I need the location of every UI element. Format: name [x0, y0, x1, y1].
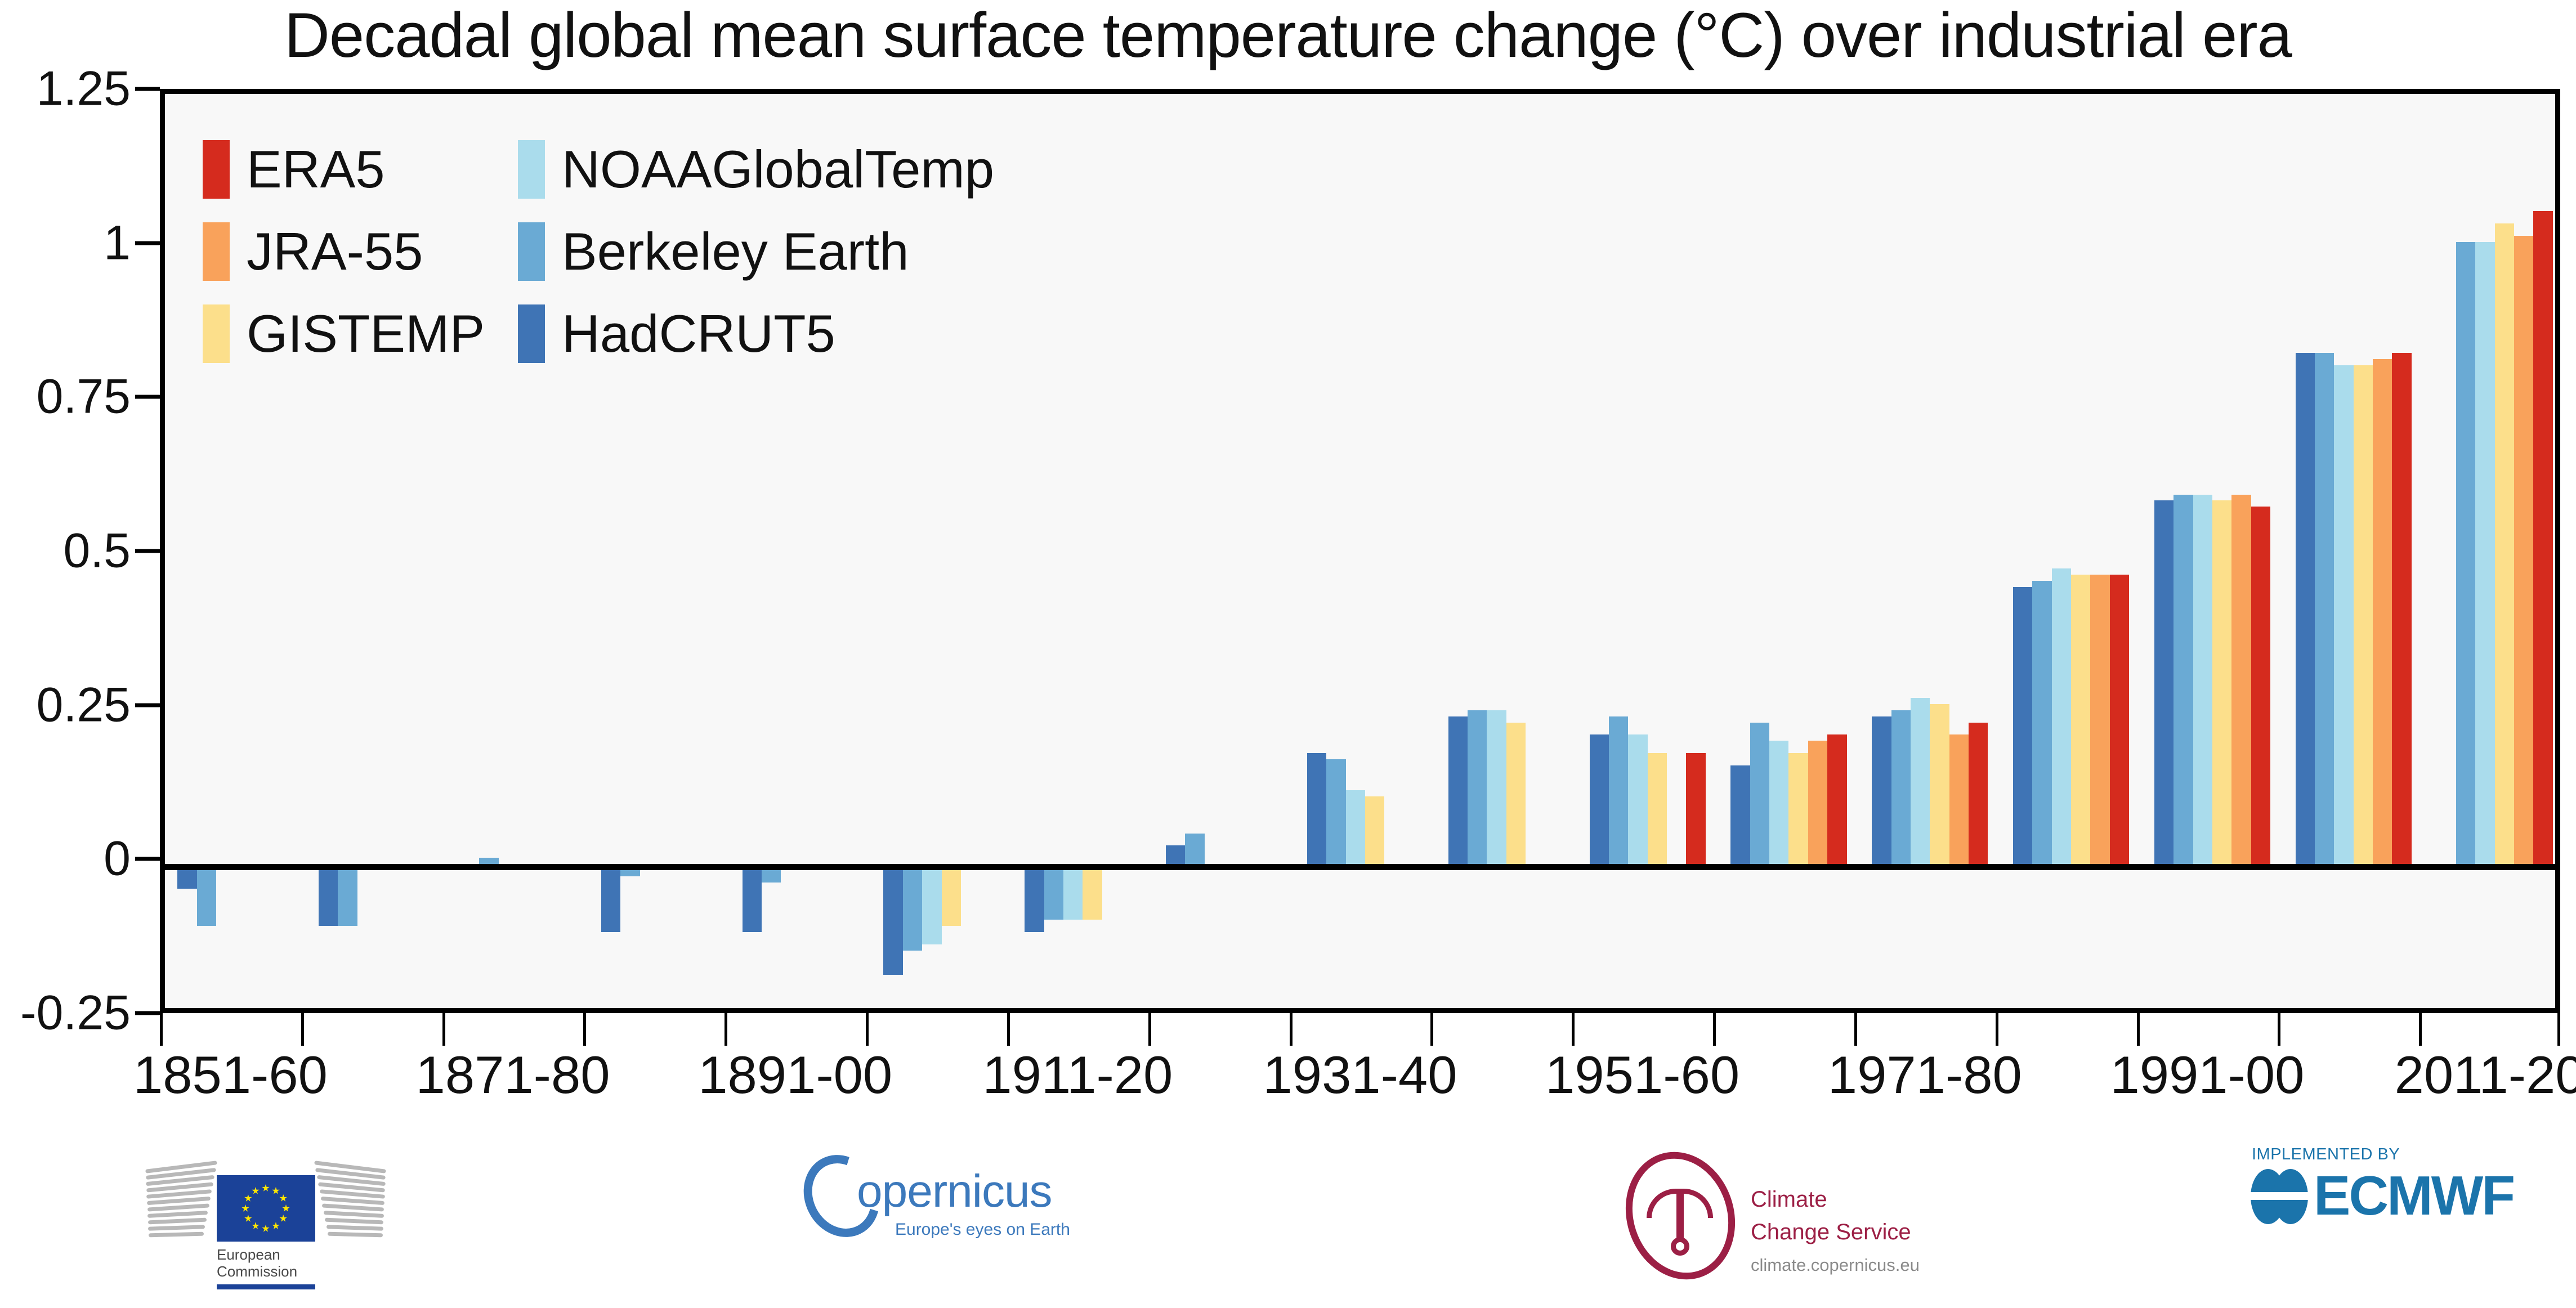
legend-item-jra-55: JRA-55 — [203, 210, 518, 293]
y-tick-mark — [135, 241, 160, 245]
bar-era5 — [1827, 734, 1846, 864]
chart-legend: ERA5NOAAGlobalTempJRA-55Berkeley EarthGI… — [203, 128, 994, 375]
bar-era5 — [1969, 723, 1988, 864]
x-tick-mark — [866, 1013, 869, 1046]
x-tick-label: 1991-00 — [2110, 1045, 2304, 1105]
bar-berkeley-earth — [1044, 864, 1063, 920]
bar-group — [1435, 94, 1577, 1008]
bar-noaaglobaltemp — [1063, 864, 1083, 920]
bar-gistemp — [1930, 704, 1949, 864]
legend-label: ERA5 — [247, 143, 385, 196]
bar-noaaglobaltemp — [1769, 741, 1788, 864]
footer-logos: European Commission opernicus Europe's e… — [0, 1117, 2576, 1308]
ec-wave-line — [325, 1218, 383, 1225]
eu-star-icon — [252, 1187, 260, 1195]
bar-hadcrut5 — [601, 864, 620, 931]
x-tick-label: 1911-20 — [982, 1045, 1173, 1105]
legend-swatch — [518, 140, 545, 199]
ec-wave-line — [328, 1232, 383, 1238]
ec-wave-left-icon — [141, 1131, 220, 1244]
y-tick-mark — [135, 703, 160, 707]
ec-wave-right-icon — [310, 1131, 388, 1244]
y-tick-mark — [135, 395, 160, 399]
c3s-label: Climate Change Service — [1751, 1183, 1911, 1248]
c3s-label-line1: Climate — [1751, 1183, 1911, 1216]
bar-hadcrut5 — [883, 864, 902, 975]
bar-group — [2001, 94, 2142, 1008]
bar-noaaglobaltemp — [1911, 698, 1930, 864]
bar-group — [2283, 94, 2424, 1008]
eu-star-icon — [262, 1225, 270, 1233]
bar-jra-55 — [2514, 236, 2533, 864]
x-tick-mark — [1290, 1013, 1293, 1046]
ec-wave-line — [327, 1225, 383, 1231]
bar-noaaglobaltemp — [2193, 495, 2212, 864]
bar-jra-55 — [1949, 734, 1969, 864]
bar-gistemp — [2212, 500, 2231, 864]
x-tick-mark — [1148, 1013, 1151, 1046]
legend-item-era5: ERA5 — [203, 128, 518, 210]
x-tick-label: 1931-40 — [1263, 1045, 1457, 1105]
x-tick-mark — [1996, 1013, 1998, 1046]
eu-star-icon — [244, 1215, 252, 1222]
european-commission-logo: European Commission — [141, 1131, 388, 1300]
bar-gistemp — [2495, 223, 2514, 864]
eu-star-icon — [279, 1194, 287, 1202]
ecmwf-mark-icon — [2251, 1169, 2310, 1224]
bar-noaaglobaltemp — [1487, 710, 1506, 864]
legend-item-gistemp: GISTEMP — [203, 293, 518, 375]
eu-star-icon — [282, 1204, 290, 1212]
ec-wave-line — [149, 1232, 204, 1238]
legend-swatch — [203, 304, 230, 363]
x-axis-ticks — [160, 1013, 2560, 1046]
bar-group — [1295, 94, 1436, 1008]
ec-wave-line — [322, 1203, 384, 1211]
bar-gistemp — [1788, 753, 1808, 864]
bar-group — [2424, 94, 2555, 1008]
bar-jra-55 — [2373, 359, 2392, 864]
bar-gistemp — [1648, 753, 1667, 864]
bar-era5 — [2533, 211, 2552, 864]
bar-group — [2142, 94, 2283, 1008]
bar-hadcrut5 — [1307, 753, 1326, 864]
bar-noaaglobaltemp — [922, 864, 941, 944]
bar-berkeley-earth — [1750, 723, 1769, 864]
legend-swatch — [518, 222, 545, 281]
copernicus-wordmark: opernicus — [857, 1165, 1052, 1218]
ecmwf-logo: IMPLEMENTED BY ECMWF — [2240, 1145, 2544, 1258]
bar-era5 — [1686, 753, 1705, 864]
bar-berkeley-earth — [1468, 710, 1487, 864]
bar-hadcrut5 — [1448, 716, 1468, 864]
x-tick-label: 1891-00 — [698, 1045, 892, 1105]
bar-hadcrut5 — [2013, 587, 2032, 864]
bar-gistemp — [1506, 723, 1526, 864]
zero-baseline — [165, 864, 2555, 870]
y-tick-mark — [135, 549, 160, 553]
eu-star-icon — [279, 1215, 287, 1222]
legend-label: JRA-55 — [247, 225, 423, 278]
legend-label: GISTEMP — [247, 307, 485, 360]
x-tick-mark — [1572, 1013, 1575, 1046]
bar-hadcrut5 — [1590, 734, 1609, 864]
ec-wave-line — [148, 1225, 205, 1231]
eu-flag-icon — [217, 1175, 315, 1242]
legend-swatch — [203, 222, 230, 281]
x-tick-mark — [583, 1013, 586, 1046]
x-tick-label: 1851-60 — [133, 1045, 328, 1105]
legend-item-hadcrut5: HadCRUT5 — [518, 293, 994, 375]
copernicus-logo: opernicus Europe's eyes on Earth — [805, 1148, 1143, 1278]
bar-berkeley-earth — [2173, 495, 2193, 864]
c3s-label-line2: Change Service — [1751, 1216, 1911, 1248]
x-tick-mark — [1713, 1013, 1716, 1046]
bar-era5 — [2251, 507, 2270, 864]
bar-group — [1012, 94, 1153, 1008]
bar-gistemp — [1083, 864, 1102, 920]
bar-berkeley-earth — [338, 864, 357, 925]
x-tick-mark — [1007, 1013, 1010, 1046]
x-tick-mark — [160, 1013, 163, 1046]
x-tick-mark — [2137, 1013, 2140, 1046]
legend-item-noaaglobaltemp: NOAAGlobalTemp — [518, 128, 994, 210]
x-axis-labels: 1851-601871-801891-001911-201931-401951-… — [0, 1045, 2576, 1112]
bar-noaaglobaltemp — [2475, 242, 2494, 864]
x-tick-label: 1971-80 — [1828, 1045, 2022, 1105]
x-tick-mark — [442, 1013, 445, 1046]
bar-gistemp — [942, 864, 961, 925]
y-axis-ticks — [0, 0, 160, 1120]
bar-berkeley-earth — [1891, 710, 1911, 864]
bar-noaaglobaltemp — [1628, 734, 1647, 864]
x-tick-mark — [301, 1013, 304, 1046]
copernicus-tagline: Europe's eyes on Earth — [895, 1220, 1070, 1239]
chart-figure: 1.2510.750.50.250-0.25 1851-601871-80189… — [0, 0, 2576, 1120]
bar-berkeley-earth — [197, 864, 216, 925]
bar-era5 — [2392, 353, 2411, 864]
bar-era5 — [2110, 575, 2129, 864]
eu-star-icon — [262, 1184, 270, 1192]
legend-label: NOAAGlobalTemp — [562, 143, 994, 196]
bar-hadcrut5 — [743, 864, 762, 931]
legend-swatch — [518, 304, 545, 363]
bar-hadcrut5 — [1166, 845, 1185, 864]
bar-hadcrut5 — [1025, 864, 1044, 931]
legend-swatch — [203, 140, 230, 199]
y-tick-mark — [135, 857, 160, 861]
eu-star-icon — [272, 1187, 280, 1195]
legend-item-berkeley-earth: Berkeley Earth — [518, 210, 994, 293]
bar-berkeley-earth — [903, 864, 922, 950]
bar-hadcrut5 — [2154, 500, 2173, 864]
bar-jra-55 — [1808, 741, 1827, 864]
eu-star-icon — [272, 1222, 280, 1230]
c3s-url: climate.copernicus.eu — [1751, 1255, 1920, 1275]
bar-noaaglobaltemp — [2052, 568, 2071, 864]
legend-label: HadCRUT5 — [562, 307, 835, 360]
bar-berkeley-earth — [2456, 242, 2475, 864]
bar-berkeley-earth — [1185, 834, 1204, 864]
thermometer-bulb-icon — [1671, 1237, 1689, 1256]
bar-gistemp — [2071, 575, 2090, 864]
eu-star-icon — [252, 1222, 260, 1230]
bar-noaaglobaltemp — [1346, 790, 1365, 864]
bar-gistemp — [2354, 365, 2373, 864]
bar-hadcrut5 — [2296, 353, 2315, 864]
bar-berkeley-earth — [1326, 759, 1345, 864]
bar-group — [1859, 94, 2001, 1008]
ec-wave-line — [324, 1211, 384, 1218]
x-tick-label: 1871-80 — [416, 1045, 610, 1105]
x-tick-mark — [724, 1013, 727, 1046]
ec-wave-line — [147, 1211, 208, 1218]
x-tick-mark — [1854, 1013, 1857, 1046]
x-tick-label: 1951-60 — [1545, 1045, 1739, 1105]
y-tick-mark — [135, 1011, 160, 1015]
ec-label: European Commission — [217, 1247, 346, 1280]
y-tick-mark — [135, 87, 160, 91]
x-tick-mark — [2557, 1013, 2560, 1046]
bar-gistemp — [1365, 796, 1384, 864]
bar-berkeley-earth — [1609, 716, 1628, 864]
x-tick-mark — [1430, 1013, 1433, 1046]
ec-wave-line — [147, 1203, 209, 1211]
bar-group — [1153, 94, 1295, 1008]
legend-label: Berkeley Earth — [562, 225, 909, 278]
bar-berkeley-earth — [479, 858, 498, 864]
climate-change-service-logo: Climate Change Service climate.copernicu… — [1616, 1143, 2043, 1294]
eu-star-icon — [241, 1204, 249, 1212]
ec-wave-line — [148, 1218, 207, 1225]
bar-noaaglobaltemp — [2334, 365, 2353, 864]
eu-star-icon — [244, 1194, 252, 1202]
bar-jra-55 — [2231, 495, 2251, 864]
x-tick-mark — [2419, 1013, 2422, 1046]
x-tick-label: 2011-20 — [2395, 1045, 2576, 1105]
ec-underline — [217, 1284, 315, 1289]
bar-berkeley-earth — [2032, 581, 2051, 864]
bar-group — [1577, 94, 1718, 1008]
bar-jra-55 — [2090, 575, 2109, 864]
x-tick-mark — [2278, 1013, 2280, 1046]
bar-hadcrut5 — [1730, 765, 1750, 864]
bar-berkeley-earth — [2315, 353, 2334, 864]
ecmwf-implemented-by-label: IMPLEMENTED BY — [2252, 1145, 2400, 1164]
bar-hadcrut5 — [319, 864, 338, 925]
bar-group — [1718, 94, 1859, 1008]
bar-hadcrut5 — [1872, 716, 1891, 864]
ecmwf-wordmark: ECMWF — [2314, 1168, 2514, 1223]
ecmwf-lens-gap — [2251, 1192, 2308, 1200]
